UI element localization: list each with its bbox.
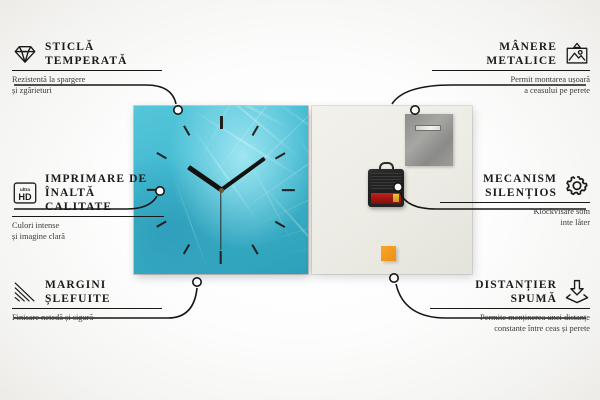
feature-divider bbox=[432, 70, 590, 71]
feature-head: MECANISM SILENȚIOS bbox=[440, 172, 590, 202]
feature-description: Finisare netedă și sigură bbox=[12, 312, 162, 323]
feature-divider bbox=[430, 308, 590, 309]
feature-description: Culori intense și imagine clară bbox=[12, 220, 164, 242]
hanging-picture-icon bbox=[564, 41, 590, 67]
feature-head: ultra HD IMPRIMARE DE ÎNALTĂ CALITATE bbox=[12, 172, 164, 216]
feature-divider bbox=[440, 202, 590, 203]
feature-head: DISTANȚIER SPUMĂ bbox=[430, 278, 590, 308]
diamond-icon bbox=[12, 41, 38, 67]
feature-divider bbox=[12, 308, 162, 309]
feature-description: Permite menținerea unei distanțe constan… bbox=[430, 312, 590, 334]
ultra-hd-icon: ultra HD bbox=[12, 180, 38, 206]
feature-title: MECANISM SILENȚIOS bbox=[483, 172, 557, 200]
feature-description: Rezistentă la spargere și zgârieturi bbox=[12, 74, 162, 96]
feature-tempered-glass: STICLĂ TEMPERATĂ Rezistentă la spargere … bbox=[12, 40, 162, 96]
feature-high-quality-print: ultra HD IMPRIMARE DE ÎNALTĂ CALITATE Cu… bbox=[12, 172, 164, 242]
feature-divider bbox=[12, 70, 162, 71]
feature-title: STICLĂ TEMPERATĂ bbox=[45, 40, 128, 68]
feature-description: Klockvisare som inte låter bbox=[440, 206, 590, 228]
feature-title: MARGINI ȘLEFUITE bbox=[45, 278, 111, 306]
feature-silent-mechanism: MECANISM SILENȚIOS Klockvisare som inte … bbox=[440, 172, 590, 228]
feature-title: DISTANȚIER SPUMĂ bbox=[475, 278, 557, 306]
feature-divider bbox=[12, 216, 164, 217]
svg-text:HD: HD bbox=[18, 192, 32, 202]
feature-metal-handles: MÂNERE METALICE Permit montarea ușoară a… bbox=[432, 40, 590, 96]
press-down-arrow-icon bbox=[564, 279, 590, 305]
polished-edge-icon bbox=[12, 279, 38, 305]
product-infographic: STICLĂ TEMPERATĂ Rezistentă la spargere … bbox=[0, 0, 600, 400]
feature-head: STICLĂ TEMPERATĂ bbox=[12, 40, 162, 70]
feature-head: MÂNERE METALICE bbox=[432, 40, 590, 70]
feature-title: MÂNERE METALICE bbox=[486, 40, 557, 68]
feature-head: MARGINI ȘLEFUITE bbox=[12, 278, 162, 308]
feature-foam-spacer: DISTANȚIER SPUMĂ Permite menținerea unei… bbox=[430, 278, 590, 334]
feature-title: IMPRIMARE DE ÎNALTĂ CALITATE bbox=[45, 172, 164, 214]
feature-polished-edges: MARGINI ȘLEFUITE Finisare netedă și sigu… bbox=[12, 278, 162, 323]
gear-icon bbox=[564, 173, 590, 199]
feature-description: Permit montarea ușoară a ceasului pe per… bbox=[432, 74, 590, 96]
